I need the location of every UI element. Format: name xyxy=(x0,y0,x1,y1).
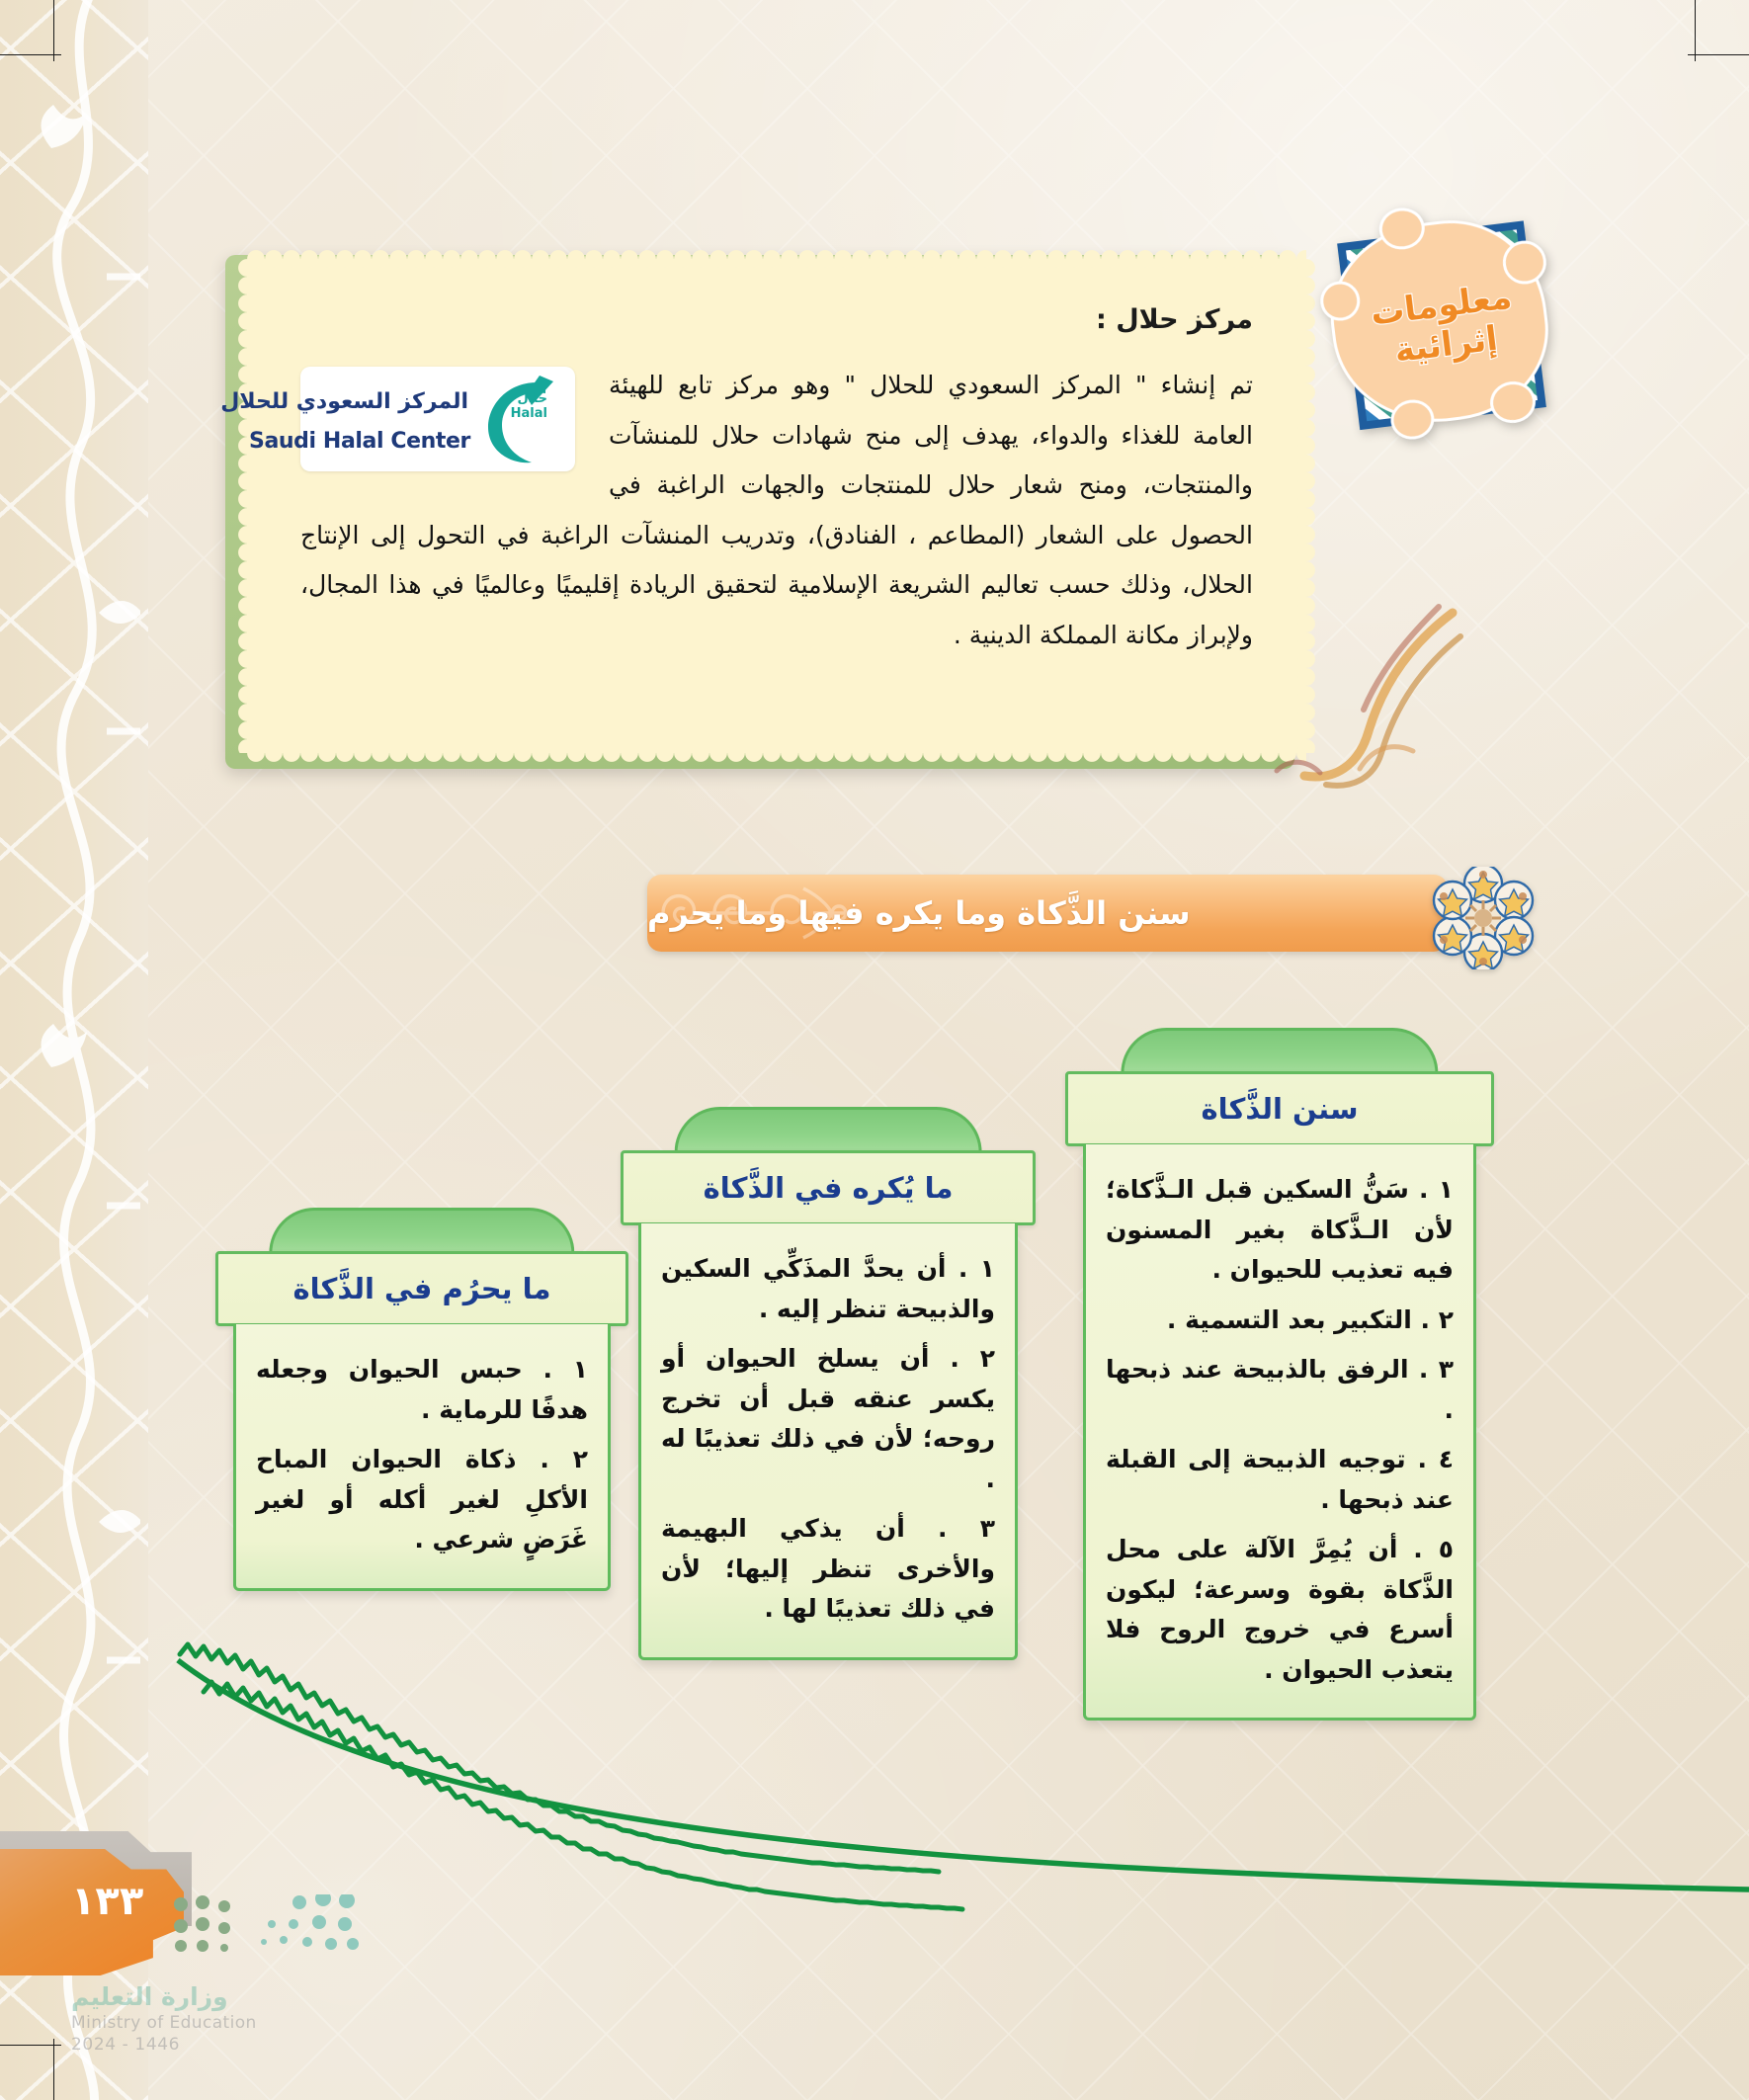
halal-mark-text: حلال Halal xyxy=(511,392,547,422)
badge-label: معلومات إثرائية xyxy=(1319,203,1567,448)
card-header: ما يحرُم في الذَّكاة xyxy=(215,1251,628,1326)
card-list-item: ١ . سَنُّ السكين قبل الـذَّكاة؛ لأن الـذ… xyxy=(1106,1170,1454,1291)
card-list-item: ٢ . التكبير بعد التسمية . xyxy=(1106,1301,1454,1341)
card-list-item: ٤ . توجيه الذبيحة إلى القبلة عند ذبحها . xyxy=(1106,1440,1454,1520)
card-title: ما يُكره في الذَّكاة xyxy=(704,1171,954,1205)
card-header: سنن الذَّكاة xyxy=(1065,1071,1494,1146)
section-banner-wrap: سنن الذَّكاة وما يكره فيها وما يحرم xyxy=(647,875,1537,956)
card-title: ما يحرُم في الذَّكاة xyxy=(293,1272,551,1305)
enrichment-info-box: مركز حلال : حلال Halal المركز السعودي لل… xyxy=(247,259,1306,753)
saudi-halal-center-logo: حلال Halal المركز السعودي للحلال Saudi H… xyxy=(300,367,575,471)
moe-english-label: Ministry of Education xyxy=(71,2013,368,2033)
card-list-item: ٣ . الرفق بالذبيحة عند ذبحها . xyxy=(1106,1350,1454,1430)
info-box-title: مركز حلال : xyxy=(300,304,1253,335)
page-number: ١٣٣ xyxy=(71,1879,143,1924)
moe-arabic-label: وزارة التعليم xyxy=(71,1982,368,2011)
card-list-item: ٢ . أن يسلخ الحيوان أو يكسر عنقه قبل أن … xyxy=(661,1339,995,1499)
halal-mark-en: Halal xyxy=(511,406,547,421)
enrichment-badge: معلومات إثرائية xyxy=(1319,203,1567,448)
info-box-body: حلال Halal المركز السعودي للحلال Saudi H… xyxy=(300,361,1253,660)
moe-year-label: 2024 - 1446 xyxy=(71,2035,368,2055)
card-list-item: ٢ . ذكاة الحيوان المباح الأكلِ لغير أكله… xyxy=(256,1440,588,1560)
dots-pattern-decoration xyxy=(173,1894,400,1954)
halal-logo-arabic-name: المركز السعودي للحلال xyxy=(310,380,468,424)
arabesque-medallion-icon xyxy=(1428,867,1539,969)
ministry-of-education-mark: وزارة التعليم Ministry of Education 2024… xyxy=(71,1982,368,2055)
halal-mark-ar: حلال xyxy=(517,391,547,406)
halal-logo-english-name: Saudi Halal Center xyxy=(308,420,470,463)
vine-ornament-icon xyxy=(12,0,140,2100)
crop-mark-bottom-left-h xyxy=(0,2045,61,2046)
card-header: ما يُكره في الذَّكاة xyxy=(621,1150,1036,1225)
crop-mark-bottom-left xyxy=(53,2039,54,2100)
card-list-item: ٣ . أن يذكي البهيمة والأخرى تنظر إليها؛ … xyxy=(661,1509,995,1630)
card-title: سنن الذَّكاة xyxy=(1202,1092,1359,1126)
card-list-item: ١ . أن يحدَّ المذَكِّي السكين والذبيحة ت… xyxy=(661,1249,995,1329)
card-body: ١ . أن يحدَّ المذَكِّي السكين والذبيحة ت… xyxy=(638,1223,1018,1660)
card-body: ١ . سَنُّ السكين قبل الـذَّكاة؛ لأن الـذ… xyxy=(1083,1144,1476,1721)
card-list-item: ١ . حبس الحيوان وجعله هدفًا للرماية . xyxy=(256,1350,588,1430)
crop-mark-top-right-h xyxy=(1688,54,1749,55)
textbook-page: مركز حلال : حلال Halal المركز السعودي لل… xyxy=(0,0,1749,2100)
crop-mark-top-left xyxy=(53,0,54,61)
section-banner: سنن الذَّكاة وما يكره فيها وما يحرم xyxy=(647,875,1448,952)
ornamental-border-strip xyxy=(0,0,148,2100)
section-banner-title: سنن الذَّكاة وما يكره فيها وما يحرم xyxy=(647,875,1448,952)
card-list-item: ٥ . أن يُمِرَّ الآلة على محل الذَّكاة بق… xyxy=(1106,1530,1454,1690)
card-body: ١ . حبس الحيوان وجعله هدفًا للرماية . ٢ … xyxy=(233,1324,611,1591)
crop-mark-top-left-h xyxy=(0,54,61,55)
crop-mark-top-right xyxy=(1695,0,1696,61)
